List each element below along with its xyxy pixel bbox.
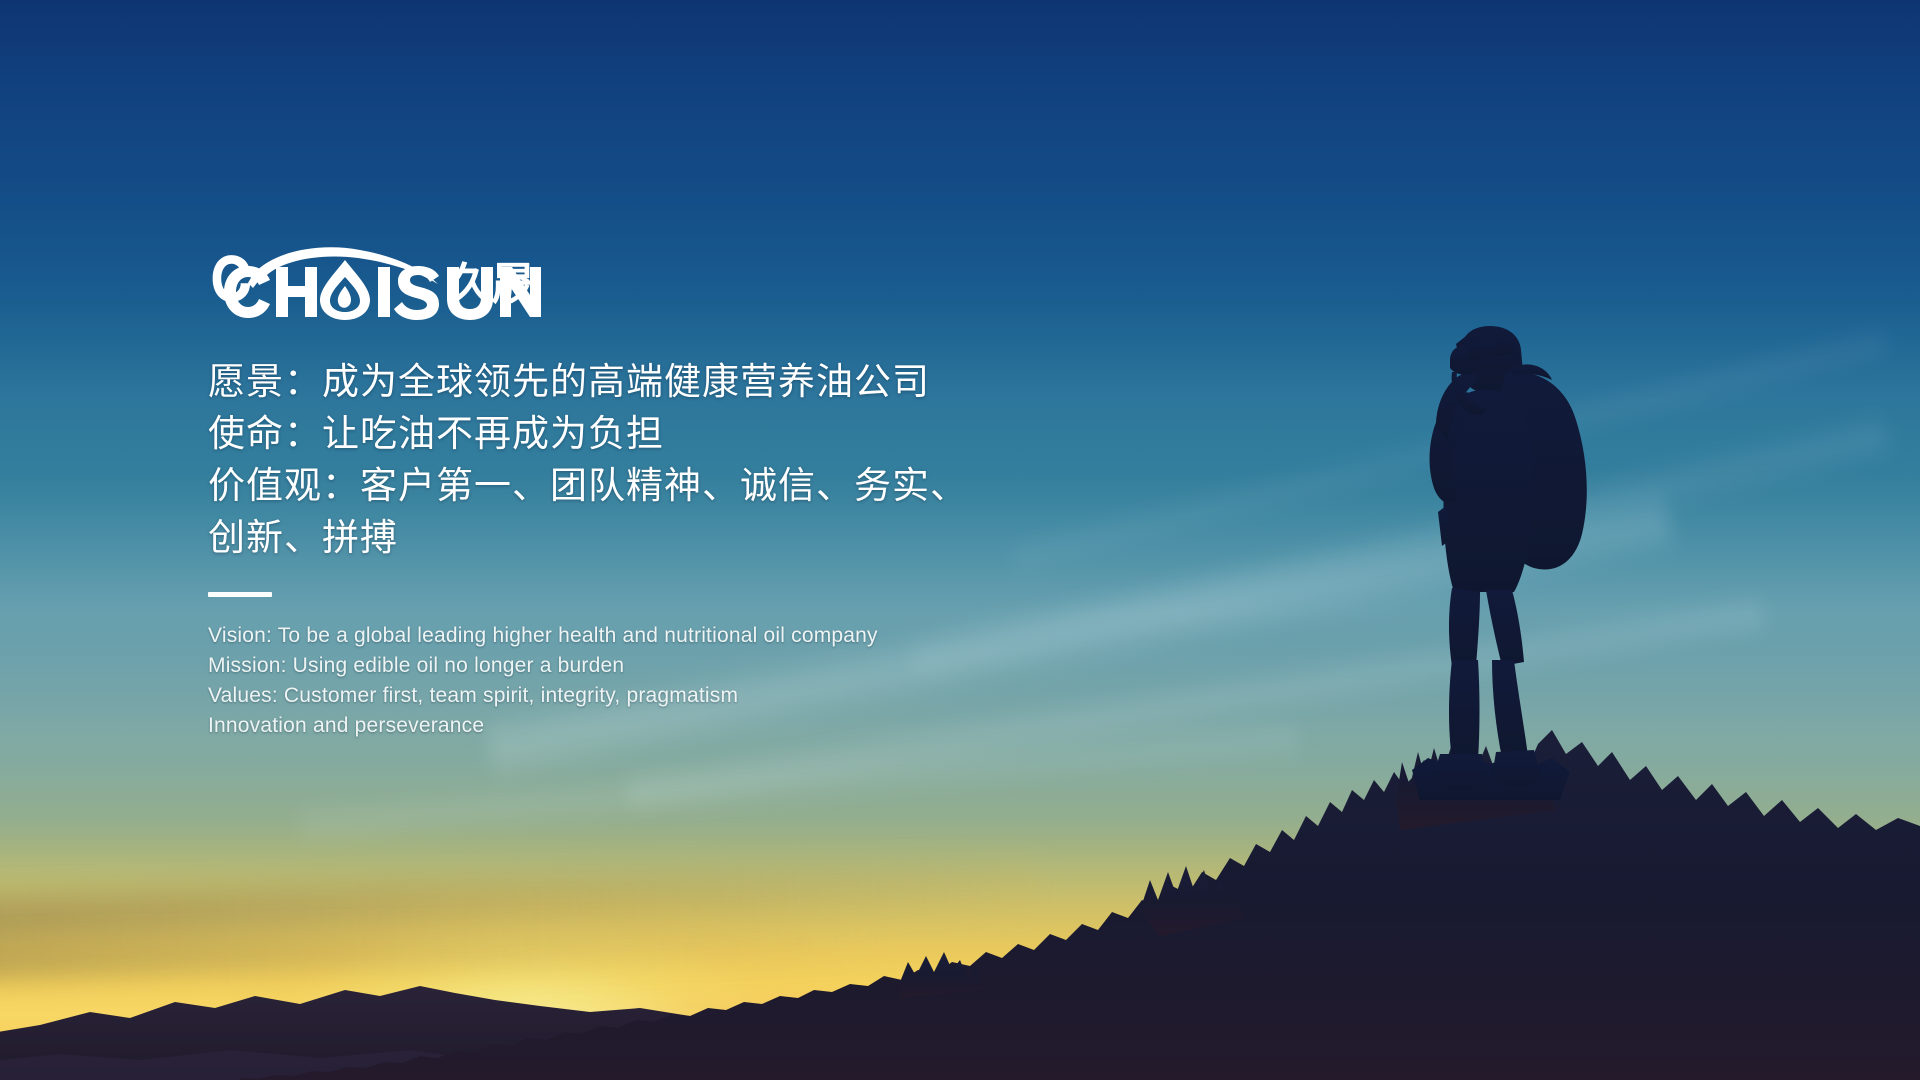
values-line-cn: 价值观：客户第一、团队精神、诚信、务实、 <box>208 460 1088 512</box>
values-line-en: Values: Customer first, team spirit, int… <box>208 681 1088 711</box>
values-line-cn-cont: 创新、拼搏 <box>208 512 1088 564</box>
logo-cjk-wordmark: 久晟 <box>448 260 534 310</box>
values-line-en-cont: Innovation and perseverance <box>208 711 1088 741</box>
drop-inner-leaf-icon <box>338 286 351 308</box>
vision-line-cn: 愿景：成为全球领先的高端健康营养油公司 <box>208 356 1088 408</box>
statement-en: Vision: To be a global leading higher he… <box>208 621 1088 741</box>
vision-line-en: Vision: To be a global leading higher he… <box>208 621 1088 651</box>
content-block: 久晟 愿景：成为全球领先的高端健康营养油公司 使命：让吃油不再成为负担 价值观：… <box>208 246 1088 741</box>
mission-line-cn: 使命：让吃油不再成为负担 <box>208 408 1088 460</box>
section-divider <box>208 592 272 597</box>
company-logo[interactable]: 久晟 <box>208 246 548 328</box>
slide-canvas: 久晟 愿景：成为全球领先的高端健康营养油公司 使命：让吃油不再成为负担 价值观：… <box>0 0 1920 1080</box>
statement-cn: 愿景：成为全球领先的高端健康营养油公司 使命：让吃油不再成为负担 价值观：客户第… <box>208 356 1088 564</box>
mission-line-en: Mission: Using edible oil no longer a bu… <box>208 651 1088 681</box>
